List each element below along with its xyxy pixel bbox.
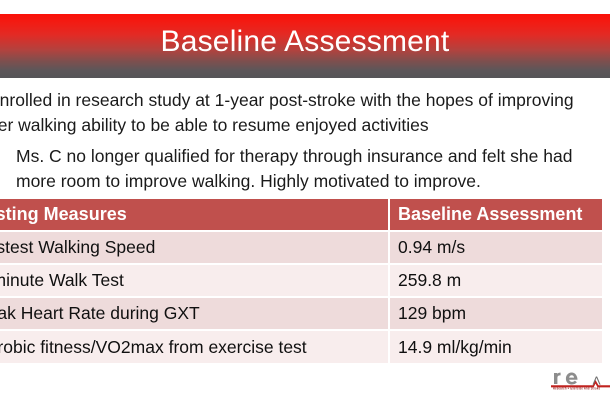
- cell-measure: Peak Heart Rate during GXT: [0, 297, 389, 330]
- column-header-value: Baseline Assessment: [389, 199, 602, 231]
- cell-value: 0.94 m/s: [389, 231, 602, 264]
- column-header-measure: Testing Measures: [0, 199, 389, 231]
- table-row: Aerobic fitness/VO2max from exercise tes…: [0, 330, 602, 363]
- react-logo: Research + Exercise And Stroke: [549, 365, 610, 396]
- cell-value: 129 bpm: [389, 297, 602, 330]
- cell-measure: Fastest Walking Speed: [0, 231, 389, 264]
- bullet-item-2: Ms. C no longer qualified for therapy th…: [16, 144, 610, 194]
- table-row: 6-minute Walk Test 259.8 m: [0, 264, 602, 297]
- body-text-block: Enrolled in research study at 1-year pos…: [0, 84, 610, 196]
- table-header-row: Testing Measures Baseline Assessment: [0, 199, 602, 231]
- bullet-item-1: Enrolled in research study at 1-year pos…: [0, 88, 598, 138]
- logo-mark-icon: [549, 365, 610, 396]
- cell-measure: Aerobic fitness/VO2max from exercise tes…: [0, 330, 389, 363]
- cell-measure: 6-minute Walk Test: [0, 264, 389, 297]
- slide-canvas: Baseline Assessment Enrolled in research…: [0, 0, 610, 400]
- table-row: Fastest Walking Speed 0.94 m/s: [0, 231, 602, 264]
- cell-value: 14.9 ml/kg/min: [389, 330, 602, 363]
- logo-tagline: Research + Exercise And Stroke: [553, 387, 600, 391]
- baseline-assessment-table: Testing Measures Baseline Assessment Fas…: [0, 199, 602, 363]
- slide-title: Baseline Assessment: [0, 22, 610, 62]
- table-row: Peak Heart Rate during GXT 129 bpm: [0, 297, 602, 330]
- title-banner: Baseline Assessment: [0, 14, 610, 78]
- cell-value: 259.8 m: [389, 264, 602, 297]
